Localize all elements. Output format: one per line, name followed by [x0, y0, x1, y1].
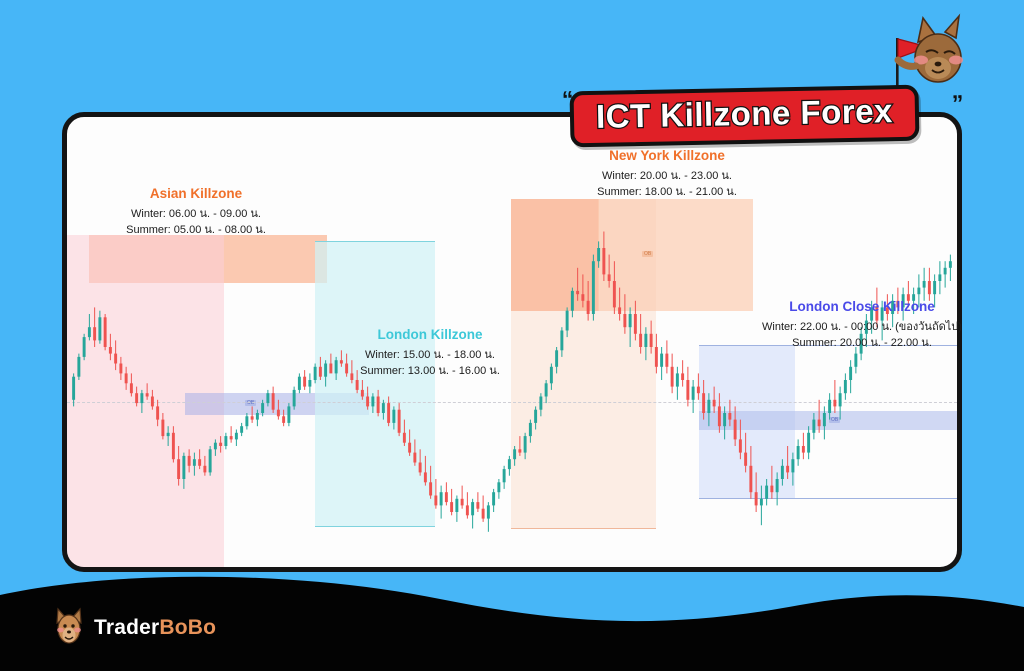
fox-head-icon — [52, 607, 86, 647]
killzone-title-newyork: New York Killzone — [567, 148, 767, 165]
quote-open-mark: “ — [562, 88, 574, 111]
killzone-winter-london: Winter: 15.00 น. - 18.00 น. — [330, 347, 530, 364]
killzone-label-london-close: London Close Killzone Winter: 22.00 น. -… — [717, 299, 1007, 352]
killzone-winter-newyork: Winter: 20.00 น. - 23.00 น. — [567, 168, 767, 185]
killzone-summer-london: Summer: 13.00 น. - 16.00 น. — [330, 363, 530, 380]
killzone-label-newyork: New York Killzone Winter: 20.00 น. - 23.… — [567, 148, 767, 201]
killzone-title-london: London Killzone — [330, 327, 530, 344]
killzone-summer-newyork: Summer: 18.00 น. - 21.00 น. — [567, 184, 767, 201]
killzone-summer-asian: Summer: 05.00 น. - 08.00 น. — [96, 222, 296, 239]
brand-name: TraderBoBo — [94, 617, 216, 638]
brand-logo-group: TraderBoBo — [52, 607, 216, 647]
brand-name-second: BoBo — [159, 616, 216, 639]
killzone-title-london-close: London Close Killzone — [717, 299, 1007, 316]
quote-close-mark: ” — [952, 92, 964, 115]
brand-name-first: Trader — [94, 616, 159, 639]
page-title: ICT Killzone Forex — [596, 94, 893, 134]
killzone-title-asian: Asian Killzone — [96, 186, 296, 203]
killzone-summer-london-close: Summer: 20.00 น. - 22.00 น. — [717, 335, 1007, 352]
title-banner: ICT Killzone Forex — [569, 85, 919, 147]
killzone-winter-asian: Winter: 06.00 น. - 09.00 น. — [96, 206, 296, 223]
killzone-winter-london-close: Winter: 22.00 น. - 00:00 น. (ของวันถัดไป… — [717, 319, 1007, 336]
killzone-label-asian: Asian Killzone Winter: 06.00 น. - 09.00 … — [96, 186, 296, 239]
killzone-label-london: London Killzone Winter: 15.00 น. - 18.00… — [330, 327, 530, 380]
